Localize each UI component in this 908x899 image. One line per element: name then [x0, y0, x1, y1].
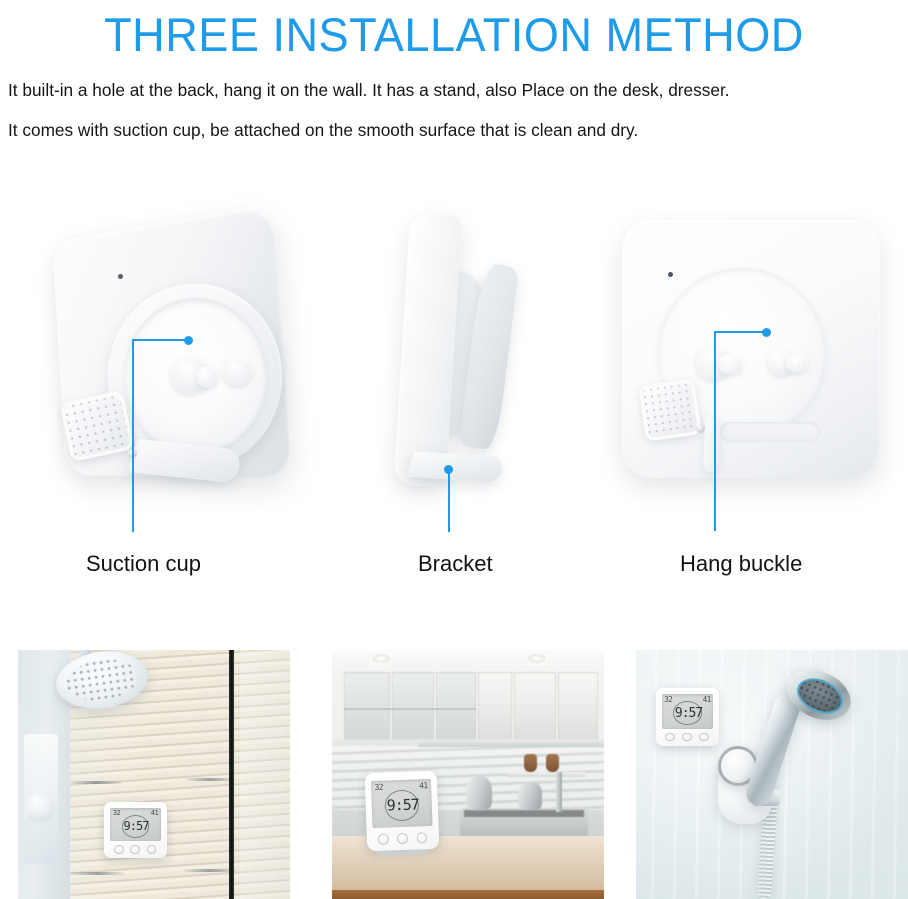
upper-cabinet — [558, 672, 598, 740]
cabinet-shelf — [344, 708, 476, 710]
hang-buckle-keyhole-slot — [718, 354, 742, 374]
lcd-time: 9:57 — [124, 820, 149, 832]
scene-shower-glass-door: 32 41 9:57 — [18, 650, 290, 899]
device-button-alarm[interactable] — [378, 833, 389, 844]
device-button-start[interactable] — [147, 845, 156, 854]
device-button-start[interactable] — [416, 832, 427, 843]
lcd-time: 9:57 — [386, 797, 419, 813]
callout-anchor-dot — [762, 328, 771, 337]
scene-kitchen-countertop: 32 41 9:57 — [332, 650, 604, 899]
sensor-hole-icon — [118, 274, 123, 279]
wall-mounted-timer-device: 32 41 9:57 — [656, 688, 719, 746]
lcd-humidity: 41 — [151, 810, 158, 817]
faucet-tap — [556, 772, 562, 812]
intro-line-1: It built-in a hole at the back, hang it … — [8, 80, 889, 100]
upper-cabinet — [344, 672, 390, 740]
mounted-timer-device: 32 41 9:57 — [104, 802, 167, 858]
jar — [524, 754, 537, 772]
device-button-alarm[interactable] — [114, 845, 123, 854]
page-title: THREE INSTALLATION METHOD — [18, 6, 890, 64]
lcd-humidity: 41 — [703, 696, 711, 704]
shelf-rail — [70, 872, 124, 875]
intro-line-2: It comes with suction cup, be attached o… — [8, 120, 889, 140]
suction-cup-nub — [196, 366, 218, 388]
battery-cover-grille — [638, 378, 701, 441]
upper-cabinet — [478, 672, 512, 740]
lcd-temperature: 32 — [374, 784, 383, 792]
counter-ledge — [418, 740, 604, 747]
infographic-page: THREE INSTALLATION METHOD It built-in a … — [0, 0, 908, 899]
shelf-rail — [186, 778, 234, 781]
stand-recess — [720, 422, 820, 442]
device-button-alarm[interactable] — [665, 733, 674, 742]
lcd-temperature: 32 — [113, 810, 120, 817]
faucet-icon — [26, 792, 54, 822]
door-frame-mullion — [229, 650, 234, 899]
screw-icon — [696, 424, 705, 433]
kettle — [466, 776, 492, 810]
product-showcase-row: Suction cup Bracket Hang buckle — [0, 206, 908, 606]
callout-label-hang-buckle: Hang buckle — [680, 551, 802, 577]
showcase-item-bracket — [330, 206, 580, 536]
showcase-item-hang-buckle — [600, 206, 900, 536]
ceiling-light-icon — [528, 654, 546, 663]
sensor-hole-icon — [668, 272, 673, 277]
countertop-edge — [332, 890, 604, 899]
callout-label-bracket: Bracket — [418, 551, 493, 577]
ceiling-light-icon — [372, 654, 390, 663]
callout-anchor-dot — [184, 336, 193, 345]
wall-shelf — [508, 772, 586, 777]
device-button-mode[interactable] — [130, 845, 139, 854]
kickstand — [703, 418, 721, 473]
product-render-flat-back — [600, 206, 900, 536]
lifestyle-photo-bathroom: 32 41 9:57 — [636, 650, 908, 899]
standing-timer-device: 32 41 9:57 — [365, 771, 440, 851]
device-body — [394, 214, 463, 487]
lifestyle-photo-shower: 32 41 9:57 — [18, 650, 290, 899]
hang-buckle-keyhole-slot — [786, 355, 808, 372]
upper-cabinet — [514, 672, 556, 740]
jar — [546, 754, 559, 772]
shelf-rail — [70, 781, 122, 784]
scene-bathroom-tile-wall: 32 41 9:57 — [636, 650, 908, 899]
glass-door-edge — [240, 650, 290, 899]
lcd-time: 9:57 — [675, 707, 702, 720]
suction-cup-nub — [222, 358, 252, 386]
device-button-mode[interactable] — [682, 733, 691, 742]
lifestyle-photo-kitchen: 32 41 9:57 — [332, 650, 604, 899]
product-render-side-profile — [330, 206, 580, 536]
lcd-humidity: 41 — [419, 782, 428, 790]
callout-label-suction-cup: Suction cup — [86, 551, 201, 577]
upper-cabinet — [392, 672, 434, 740]
product-render-angled-back — [10, 206, 310, 536]
device-button-mode[interactable] — [397, 833, 408, 844]
upper-cabinet — [436, 672, 476, 740]
kettle — [518, 782, 542, 810]
lifestyle-photo-row: 32 41 9:57 — [0, 650, 908, 899]
lcd-temperature: 32 — [664, 696, 672, 704]
showcase-item-suction-cup — [10, 206, 310, 536]
sink-shadow — [464, 810, 584, 817]
device-button-start[interactable] — [699, 733, 708, 742]
